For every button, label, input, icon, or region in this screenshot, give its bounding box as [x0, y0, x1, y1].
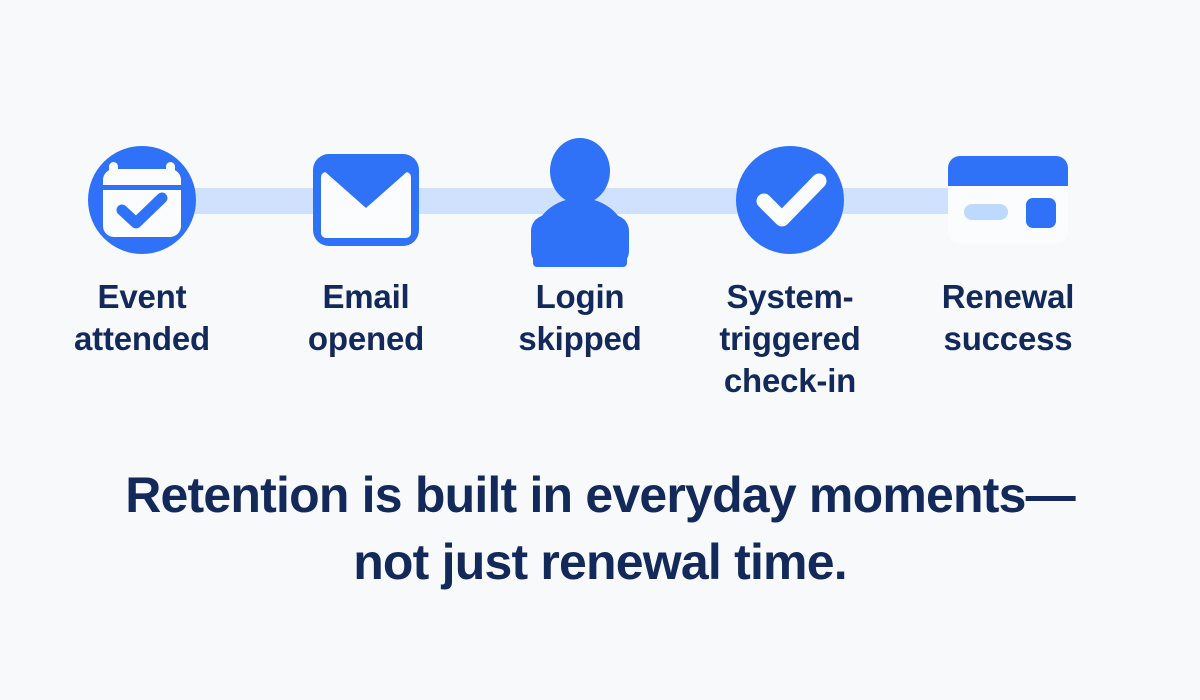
calendar-check-icon	[82, 130, 202, 270]
journey-step-label: Event attended	[74, 276, 210, 360]
user-person-icon	[520, 130, 640, 270]
check-circle-icon	[730, 130, 850, 270]
infographic-canvas: Event attended Email opened	[0, 0, 1200, 700]
envelope-icon	[306, 130, 426, 270]
journey-step-label: Email opened	[308, 276, 424, 360]
journey-step-label: Login skipped	[518, 276, 641, 360]
journey-step-label: Renewal success	[942, 276, 1075, 360]
credit-card-icon	[948, 130, 1068, 270]
journey-step-renewal-success[interactable]: Renewal success	[898, 130, 1118, 360]
journey-step-label: System- triggered check-in	[719, 276, 860, 403]
journey-step-event-attended[interactable]: Event attended	[32, 130, 252, 360]
journey-step-system-triggered-check-in[interactable]: System- triggered check-in	[680, 130, 900, 403]
customer-journey-timeline: Event attended Email opened	[0, 130, 1200, 420]
headline-text: Retention is built in everyday moments— …	[0, 462, 1200, 596]
journey-step-login-skipped[interactable]: Login skipped	[470, 130, 690, 360]
journey-step-email-opened[interactable]: Email opened	[256, 130, 476, 360]
